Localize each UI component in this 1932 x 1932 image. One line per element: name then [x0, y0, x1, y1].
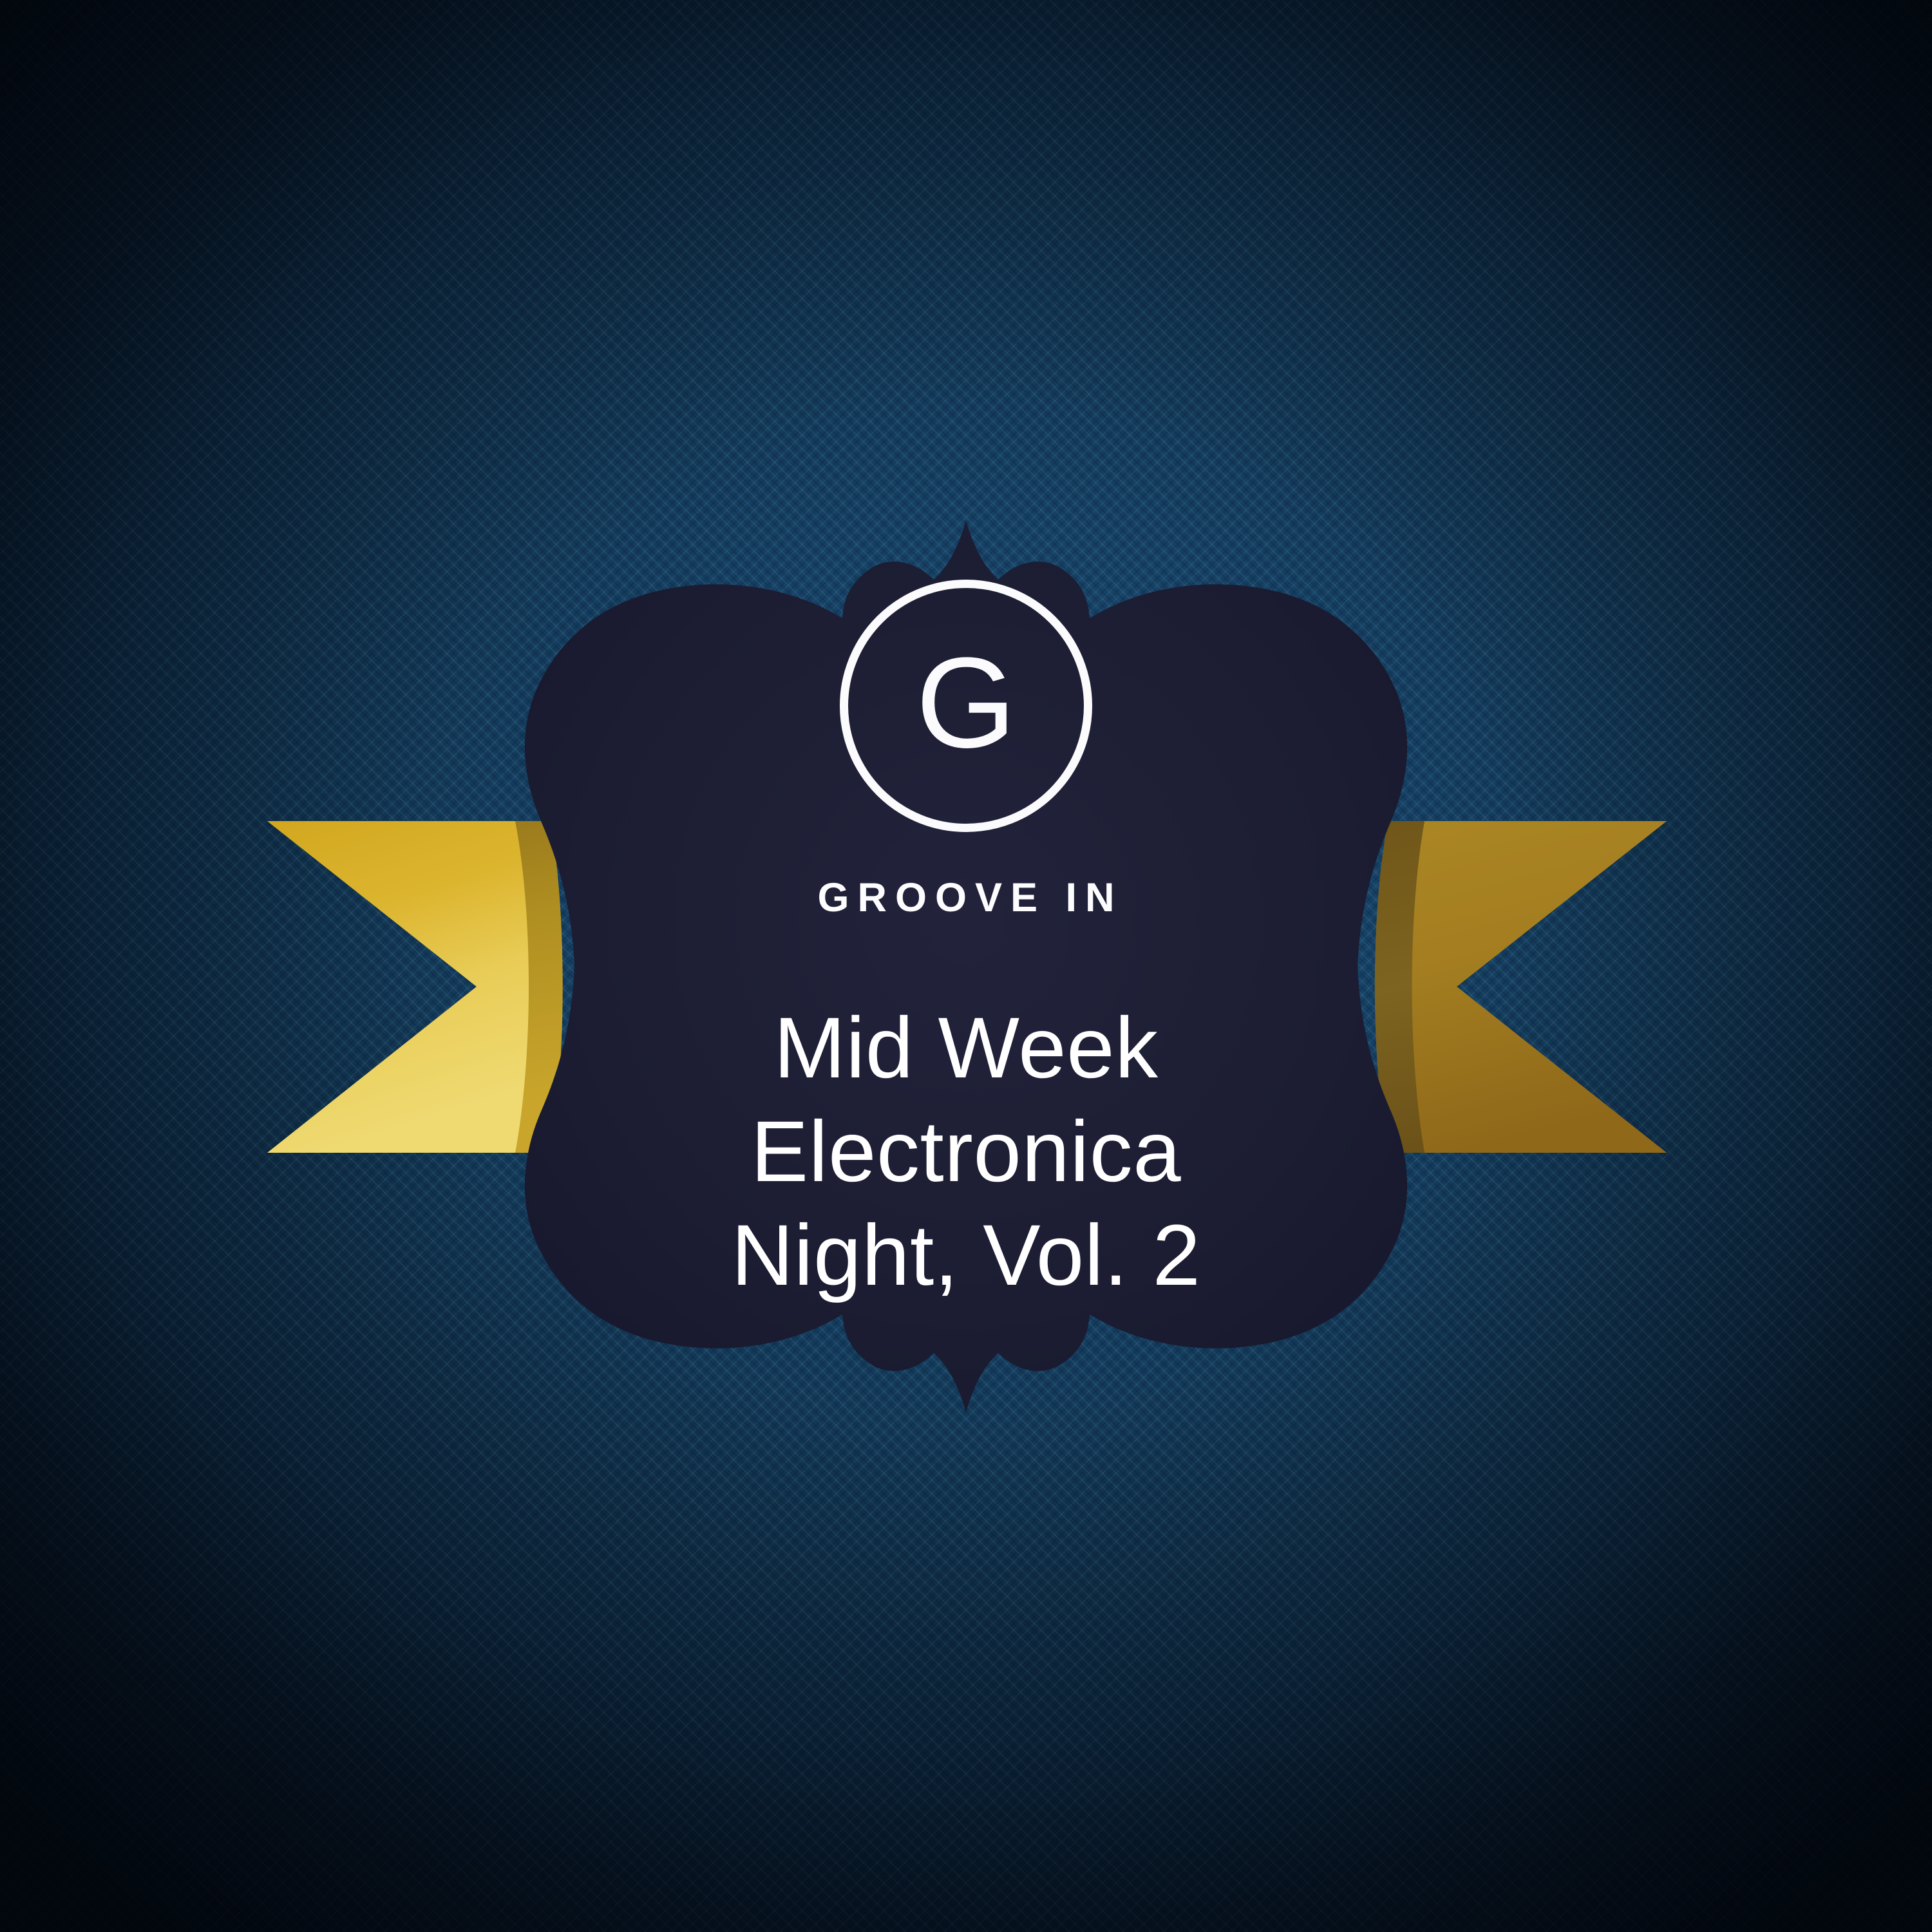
badge-content: G GROOVE IN Mid Week Electronica Night, …	[580, 580, 1352, 1307]
logo-letter: G	[916, 639, 1016, 768]
album-title-line-2: Electronica	[580, 1101, 1352, 1204]
album-title-line-3: Night, Vol. 2	[580, 1204, 1352, 1308]
brand-name: GROOVE IN	[580, 875, 1352, 921]
album-cover: G GROOVE IN Mid Week Electronica Night, …	[0, 0, 1932, 1932]
album-title: Mid Week Electronica Night, Vol. 2	[580, 997, 1352, 1307]
album-title-line-1: Mid Week	[580, 997, 1352, 1101]
circle-monogram-icon: G	[840, 580, 1092, 832]
